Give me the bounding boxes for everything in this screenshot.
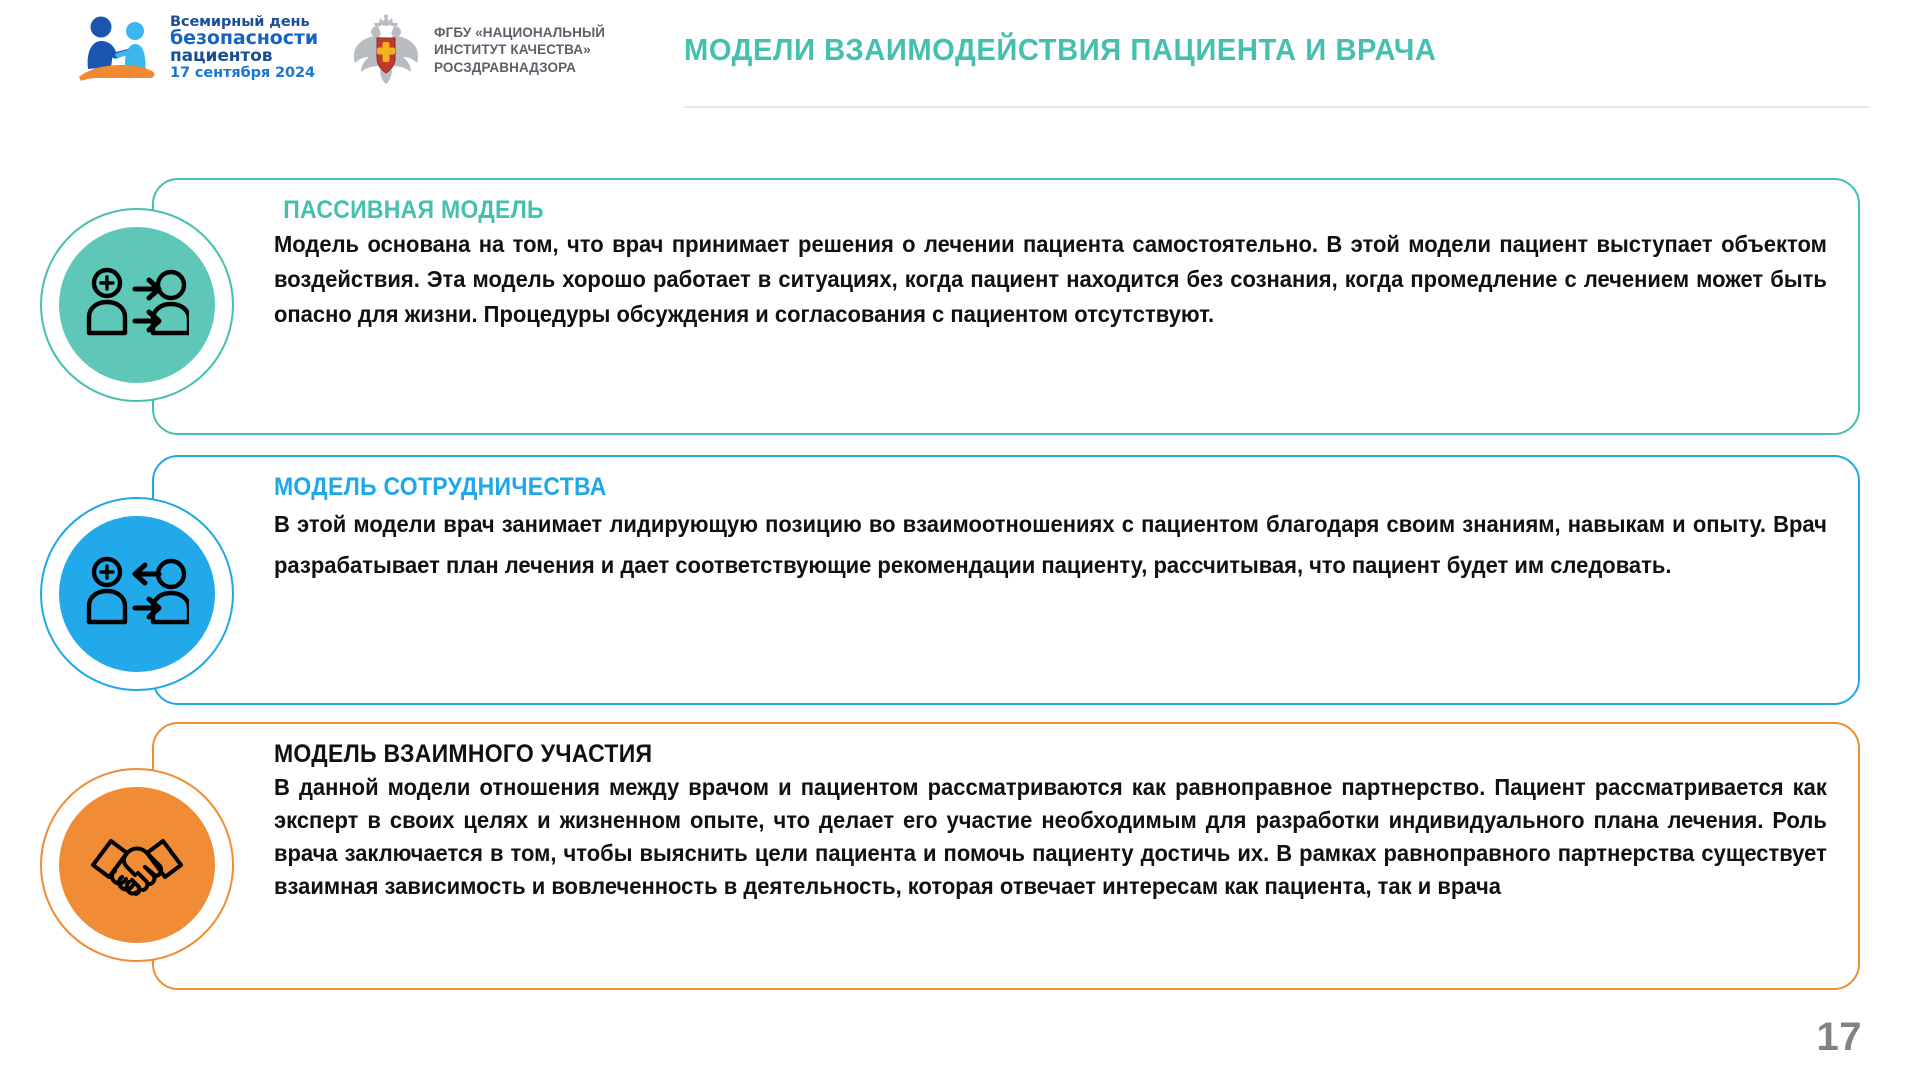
world-patient-safety-day-logo: Всемирный день безопасности пациентов 17… — [76, 12, 318, 84]
handshake-icon — [59, 787, 215, 943]
model-card-passive: ПАССИВНАЯ МОДЕЛЬ Модель основана на том,… — [152, 178, 1860, 435]
card-heading: МОДЕЛЬ ВЗАИМНОГО УЧАСТИЯ — [274, 740, 1706, 769]
national-institute-of-quality-logo: ФГБУ «НАЦИОНАЛЬНЫЙ ИНСТИТУТ КАЧЕСТВА» РО… — [350, 14, 605, 86]
nik-logo-line2: ИНСТИТУТ КАЧЕСТВА» — [434, 41, 605, 58]
model-card-mutual-participation-badge — [40, 768, 234, 962]
nik-logo-line3: РОСЗДРАВНАДЗОРА — [434, 59, 605, 76]
model-card-mutual-participation: МОДЕЛЬ ВЗАИМНОГО УЧАСТИЯ В данной модели… — [152, 722, 1860, 990]
card-description: Модель основана на том, что врач принима… — [274, 227, 1827, 332]
doctor-to-patient-one-way-arrows-icon — [59, 227, 215, 383]
title-divider — [684, 106, 1869, 108]
card-description: В этой модели врач занимает лидирующую п… — [274, 504, 1827, 586]
card-description: В данной модели отношения между врачом и… — [274, 771, 1827, 903]
doctor-patient-two-way-arrows-icon — [59, 516, 215, 672]
wsp-logo-line4: 17 сентября 2024 — [170, 66, 318, 81]
slide-header: Всемирный день безопасности пациентов 17… — [0, 0, 1920, 118]
model-card-passive-badge — [40, 208, 234, 402]
nik-logo-line1: ФГБУ «НАЦИОНАЛЬНЫЙ — [434, 24, 605, 41]
model-card-cooperation: МОДЕЛЬ СОТРУДНИЧЕСТВА В этой модели врач… — [152, 455, 1860, 705]
card-heading: МОДЕЛЬ СОТРУДНИЧЕСТВА — [274, 473, 1706, 502]
model-card-cooperation-badge — [40, 497, 234, 691]
page-title: МОДЕЛИ ВЗАИМОДЕЙСТВИЯ ПАЦИЕНТА И ВРАЧА — [684, 32, 1437, 68]
page-number: 17 — [1817, 1015, 1863, 1060]
wsp-logo-line3: пациентов — [170, 48, 318, 66]
two-people-on-hand-icon — [76, 12, 162, 84]
russian-double-headed-eagle-emblem-icon — [350, 14, 422, 86]
card-heading: ПАССИВНАЯ МОДЕЛЬ — [274, 196, 1706, 225]
